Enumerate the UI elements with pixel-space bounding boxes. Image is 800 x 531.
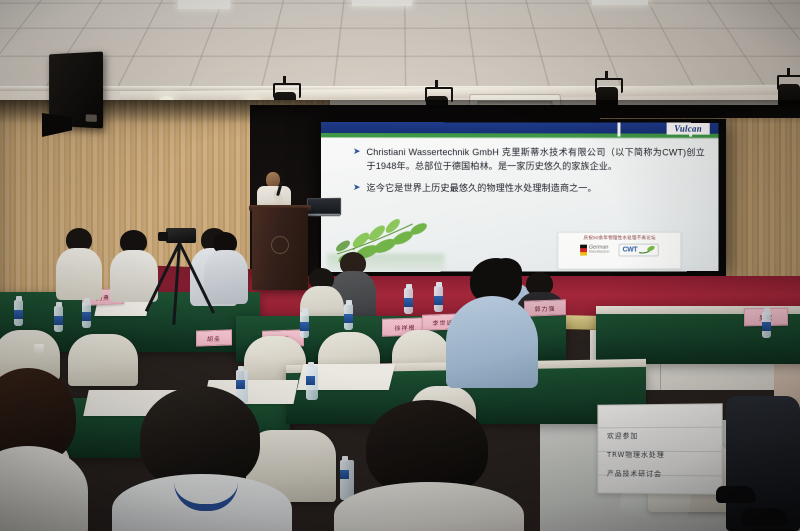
sign-rule [598,427,721,429]
bullet-arrow-icon: ➤ [353,146,361,173]
audience-member [204,232,248,302]
water-bottle [54,306,63,332]
german-manufacturer-logo: German Manufacturer [580,245,610,256]
shoe [742,508,788,526]
torso [56,248,102,300]
namecard-text: 胡圭 [207,333,221,342]
sign-line: TRW物理水处理 [607,450,665,460]
video-camera-icon [166,228,196,243]
event-floor-sign: 欢迎参加 TRW物理水处理 产品技术研讨会 [597,403,722,495]
water-bottle [82,302,91,328]
namecard-text: 郭力强 [534,303,555,313]
torso [110,250,158,302]
slide-header-tick [618,123,621,137]
water-bottle [300,312,309,338]
cwt-swoosh-icon [639,246,655,255]
water-bottle [306,366,318,400]
slide-bullet-text: 迄今它是世界上历史最悠久的物理性水处理制造商之一。 [366,182,596,196]
bullet-arrow-icon: ➤ [353,182,361,196]
water-bottle [404,288,413,314]
sign-line: 欢迎参加 [607,431,638,441]
gm-line2: Manufacturer [589,251,610,255]
vulcan-logo-text: Vulcan [674,124,702,133]
slide-bullet-item: ➤ Christiani Wassertechnik GmbH 克里斯蒂水技术有… [353,146,705,173]
podium-emblem [271,236,289,254]
sign-line: 产品技术研讨会 [607,469,662,479]
video-camera-tripod [152,228,206,324]
paper-cup [34,344,44,355]
namecard: 胡圭 [196,329,232,346]
foreground-person [446,258,536,388]
water-bottle [14,300,23,326]
slide-footer-caption: 庆祝90余年物理性水处理不离论坛 [583,234,655,241]
shirt [0,446,88,531]
cwt-logo: CWT [619,244,659,257]
ceiling-panel-light [592,0,648,5]
slide-bullet-list: ➤ Christiani Wassertechnik GmbH 克里斯蒂水技术有… [353,146,705,205]
foreground-person [0,368,90,531]
shirt [334,482,524,531]
slide-footer-logo-box: 庆祝90余年物理性水处理不离论坛 German Manufacturer CWT [557,232,681,270]
foreground-person [346,400,526,531]
vulcan-logo: Vulcan [666,123,709,135]
slide-bullet-item: ➤ 迄今它是世界上历史最悠久的物理性水处理制造商之一。 [353,182,705,196]
slide-header-bar [321,122,719,134]
slide-bullet-text: Christiani Wassertechnik GmbH 克里斯蒂水技术有限公… [366,146,704,173]
slide-accent-line-light [321,137,719,139]
shirt [446,296,538,388]
audience-member [110,230,158,300]
water-bottle [434,286,443,312]
water-bottle [762,312,771,338]
audience-member [56,228,102,298]
foreground-person [122,386,282,531]
conference-room-photo: Vulcan ➤ Christiani Wassertechnik GmbH 克… [0,0,800,531]
shoe [716,486,756,503]
presentation-slide: Vulcan ➤ Christiani Wassertechnik GmbH 克… [321,122,719,272]
torso [204,250,248,304]
ceiling-panel-light [178,0,230,9]
water-bottle [344,304,353,330]
projection-screen: Vulcan ➤ Christiani Wassertechnik GmbH 克… [318,119,726,277]
ceiling-panel-light [352,0,412,6]
cwt-logo-text: CWT [622,247,637,254]
camera-lens-icon [158,232,168,241]
german-flag-icon [580,245,587,256]
